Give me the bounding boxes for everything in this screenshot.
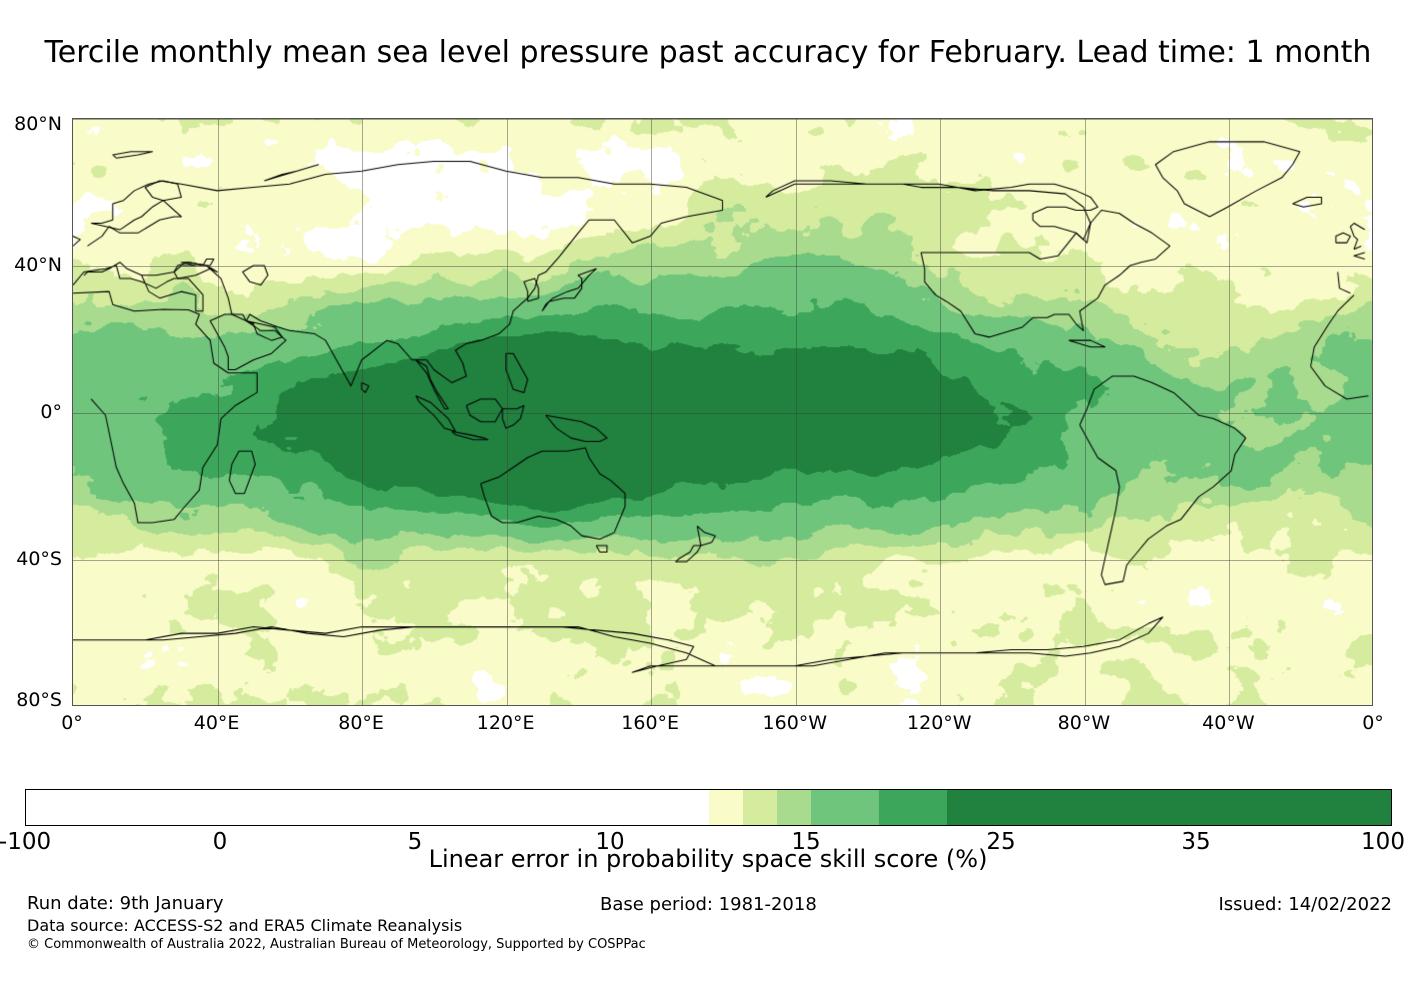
xtick-label: 80°W	[1058, 712, 1110, 734]
map-raster	[73, 119, 1372, 705]
colorbar-band	[26, 790, 709, 825]
ytick-label: 80°N	[14, 113, 62, 135]
xtick-label: 160°W	[763, 712, 828, 734]
colorbar-band	[777, 790, 811, 825]
colorbar-tick-label: 100	[1361, 829, 1405, 855]
xtick-label: 40°W	[1202, 712, 1254, 734]
xtick-label: 160°E	[621, 712, 679, 734]
base-period-text: Base period: 1981-2018	[600, 894, 817, 915]
colorbar[interactable]	[25, 789, 1392, 826]
map-plot-area[interactable]	[72, 118, 1373, 706]
footer-left-block: Run date: 9th January Data source: ACCES…	[27, 892, 646, 954]
ytick-label: 80°S	[16, 689, 62, 711]
colorbar-band	[947, 790, 1391, 825]
colorbar-tick-label: 35	[1181, 829, 1210, 855]
run-date-text: Run date: 9th January	[27, 892, 646, 915]
ytick-label: 40°S	[16, 548, 62, 570]
colorbar-tick-label: 25	[986, 829, 1015, 855]
xtick-label: 120°E	[477, 712, 535, 734]
xtick-label: 120°W	[907, 712, 972, 734]
colorbar-bands	[25, 789, 1392, 826]
issued-date-text: Issued: 14/02/2022	[1218, 894, 1392, 915]
colorbar-band	[879, 790, 947, 825]
xtick-label: 0°	[61, 712, 83, 734]
colorbar-tick-label: -100	[0, 829, 51, 855]
colorbar-tick-label: 5	[408, 829, 423, 855]
ytick-label: 40°N	[14, 254, 62, 276]
xtick-label: 80°E	[338, 712, 384, 734]
copyright-text: © Commonwealth of Australia 2022, Austra…	[27, 936, 646, 954]
data-source-text: Data source: ACCESS-S2 and ERA5 Climate …	[27, 915, 646, 936]
colorbar-band	[709, 790, 743, 825]
colorbar-band	[743, 790, 777, 825]
colorbar-axis-label: Linear error in probability space skill …	[429, 845, 988, 873]
colorbar-band	[811, 790, 879, 825]
xtick-label: 0°	[1362, 712, 1384, 734]
figure-canvas: 0° 40°E 80°E 120°E 160°E 160°W 120°W 80°…	[0, 0, 1416, 990]
xtick-label: 40°E	[194, 712, 240, 734]
colorbar-tick-label: 0	[213, 829, 228, 855]
ytick-label: 0°	[40, 401, 62, 423]
